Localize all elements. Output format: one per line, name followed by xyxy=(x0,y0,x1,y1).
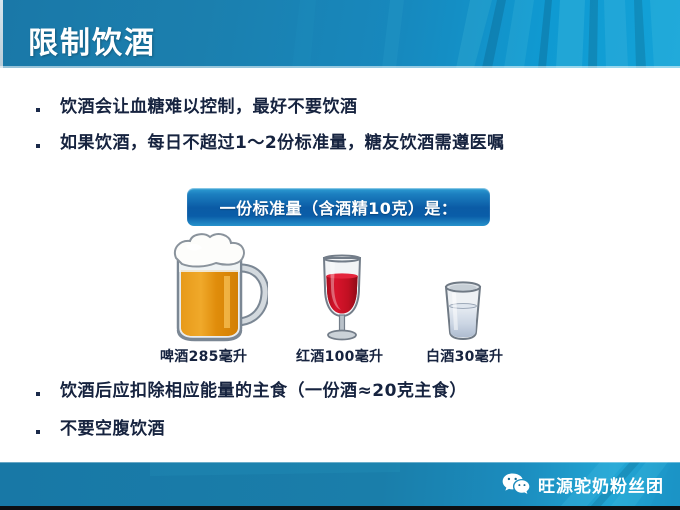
slide-bottom-edge xyxy=(0,506,680,510)
bullet-item-3: 饮酒后应扣除相应能量的主食（一份酒≈20克主食） xyxy=(36,381,467,401)
bullet-item-2: 如果饮酒，每日不超过1～2份标准量，糖友饮酒需遵医嘱 xyxy=(36,133,505,153)
footer-brand: 旺源驼奶粉丝团 xyxy=(502,464,664,504)
bullet-dot-icon xyxy=(36,430,40,434)
header-underline xyxy=(0,66,680,68)
drink-caption-beer: 啤酒285毫升 xyxy=(160,346,247,366)
presentation-slide: 限制饮酒 饮酒会让血糖难以控制，最好不要饮酒 如果饮酒，每日不超过1～2份标准量… xyxy=(0,0,680,510)
red-wine-glass-icon xyxy=(316,254,368,344)
bullet-text-2: 如果饮酒，每日不超过1～2份标准量，糖友饮酒需遵医嘱 xyxy=(60,133,505,153)
liquor-tumbler-icon xyxy=(440,280,486,342)
footer-brand-label: 旺源驼奶粉丝团 xyxy=(538,472,664,497)
wechat-icon xyxy=(502,472,530,496)
header-left-edge xyxy=(0,0,3,68)
bullet-text-3: 饮酒后应扣除相应能量的主食（一份酒≈20克主食） xyxy=(60,381,467,401)
page-title: 限制饮酒 xyxy=(28,18,156,62)
bullet-dot-icon xyxy=(36,392,40,396)
drink-caption-wine: 红酒100毫升 xyxy=(296,346,383,366)
slide-header-banner: 限制饮酒 xyxy=(0,0,680,68)
footer-top-edge xyxy=(0,462,680,463)
callout-label: 一份标准量（含酒精10克）是： xyxy=(220,195,458,219)
bullet-item-4: 不要空腹饮酒 xyxy=(36,419,165,439)
bullet-dot-icon xyxy=(36,144,40,148)
bullet-dot-icon xyxy=(36,108,40,112)
bullet-item-1: 饮酒会让血糖难以控制，最好不要饮酒 xyxy=(36,97,358,117)
drink-caption-liquor: 白酒30毫升 xyxy=(426,346,503,366)
bullet-text-4: 不要空腹饮酒 xyxy=(60,419,165,439)
bullet-text-1: 饮酒会让血糖难以控制，最好不要饮酒 xyxy=(60,97,358,117)
beer-mug-icon xyxy=(168,232,268,344)
standard-serving-callout: 一份标准量（含酒精10克）是： xyxy=(187,188,490,226)
